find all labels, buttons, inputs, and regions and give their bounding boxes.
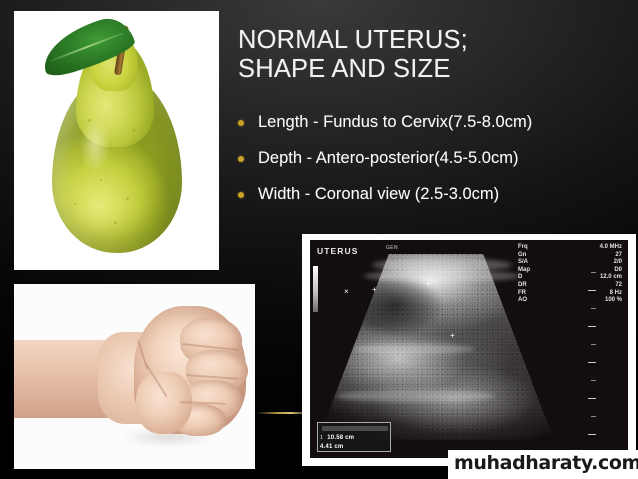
fist-illustration bbox=[14, 284, 255, 469]
ultrasound-scale-tick bbox=[588, 434, 596, 435]
bullet-text: Length - Fundus to Cervix(7.5-8.0cm) bbox=[258, 112, 532, 132]
ultrasound-param-key: FR bbox=[518, 290, 526, 298]
watermark-text: muhadharaty.com bbox=[454, 452, 638, 474]
ultrasound-measure-row: 1 10.58 cm bbox=[320, 433, 388, 442]
pear-speck bbox=[88, 119, 91, 122]
ultrasound-caliper-marker: × bbox=[344, 288, 349, 296]
ultrasound-param-key: Frq bbox=[518, 244, 528, 252]
ultrasound-scale-tick bbox=[588, 326, 596, 327]
ultrasound-tissue-band bbox=[336, 390, 496, 402]
ultrasound-scale-tick bbox=[591, 308, 596, 309]
ultrasound-scale-tick bbox=[591, 344, 596, 345]
bullet-list: Length - Fundus to Cervix(7.5-8.0cm) Dep… bbox=[238, 112, 634, 220]
ultrasound-grayscale-bar bbox=[313, 266, 318, 312]
bullet-dot-icon bbox=[238, 156, 244, 162]
ultrasound-param-value: 4.0 MHz bbox=[600, 244, 622, 252]
ultrasound-param-row: Frq 4.0 MHz bbox=[518, 244, 622, 252]
bullet-dot-icon bbox=[238, 192, 244, 198]
ultrasound-tissue-band bbox=[354, 344, 474, 354]
ultrasound-param-key: AO bbox=[518, 297, 527, 305]
ultrasound-label: UTERUS bbox=[317, 246, 359, 256]
ultrasound-param-value: 27 bbox=[615, 252, 622, 260]
ultrasound-top-code: GEN bbox=[386, 245, 398, 251]
ultrasound-tissue-band bbox=[364, 270, 520, 282]
list-item: Depth - Antero-posterior(4.5-5.0cm) bbox=[238, 148, 634, 184]
pear-speck bbox=[74, 203, 76, 205]
ultrasound-param-value: 8 Hz bbox=[610, 290, 622, 298]
ultrasound-param-key: DR bbox=[518, 282, 527, 290]
ultrasound-param-row: D 12.0 cm bbox=[518, 274, 622, 282]
ultrasound-parameter-panel: Frq 4.0 MHz Gn 27 S/A 2/0 Map D0 D 12. bbox=[518, 244, 622, 305]
list-item: Length - Fundus to Cervix(7.5-8.0cm) bbox=[238, 112, 634, 148]
ultrasound-depth-scale bbox=[586, 268, 596, 436]
title-line-2: SHAPE AND SIZE bbox=[238, 55, 630, 84]
pear-speck bbox=[80, 161, 82, 163]
gold-divider-line bbox=[256, 412, 306, 414]
pear-speck bbox=[100, 179, 102, 181]
fist-image bbox=[14, 284, 255, 469]
pear-speck bbox=[146, 171, 148, 173]
list-item: Width - Coronal view (2.5-3.0cm) bbox=[238, 184, 634, 220]
bullet-text: Width - Coronal view (2.5-3.0cm) bbox=[258, 184, 499, 204]
ultrasound-param-value: D0 bbox=[614, 267, 622, 275]
ultrasound-param-row: S/A 2/0 bbox=[518, 259, 622, 267]
ultrasound-image: UTERUS GEN Frq 4.0 MHz Gn 27 S/A 2/0 Map bbox=[302, 234, 636, 466]
pear-speck bbox=[126, 197, 129, 200]
thumb-shape bbox=[136, 372, 192, 434]
ultrasound-measure-label: 1 bbox=[320, 435, 323, 441]
presentation-slide: NORMAL UTERUS; SHAPE AND SIZE Length - F… bbox=[0, 0, 638, 479]
ultrasound-param-row: Gn 27 bbox=[518, 252, 622, 260]
ultrasound-param-key: Gn bbox=[518, 252, 526, 260]
ultrasound-scale-tick bbox=[588, 398, 596, 399]
ultrasound-param-value: 72 bbox=[615, 282, 622, 290]
pear-speck bbox=[154, 211, 156, 213]
ultrasound-param-key: Map bbox=[518, 267, 530, 275]
ultrasound-measure-value-2: 4.41 cm bbox=[320, 444, 343, 450]
title-line-1: NORMAL UTERUS; bbox=[238, 26, 630, 55]
pear-highlight bbox=[74, 106, 116, 184]
ultrasound-scale-tick bbox=[591, 416, 596, 417]
ultrasound-param-value: 12.0 cm bbox=[600, 274, 622, 282]
bullet-dot-icon bbox=[238, 120, 244, 126]
ultrasound-scale-tick bbox=[591, 380, 596, 381]
ultrasound-param-row: Map D0 bbox=[518, 267, 622, 275]
pear-illustration bbox=[14, 11, 219, 270]
ultrasound-measure-header bbox=[320, 424, 388, 433]
ultrasound-screen: UTERUS GEN Frq 4.0 MHz Gn 27 S/A 2/0 Map bbox=[310, 240, 628, 458]
ultrasound-param-value: 2/0 bbox=[614, 259, 622, 267]
ultrasound-param-row: AO 100 % bbox=[518, 297, 622, 305]
pear-speck bbox=[132, 129, 135, 132]
ultrasound-param-row: FR 8 Hz bbox=[518, 290, 622, 298]
pear-speck bbox=[110, 143, 112, 145]
ultrasound-measure-bar bbox=[322, 426, 388, 431]
ultrasound-param-key: D bbox=[518, 274, 522, 282]
ultrasound-measurement-box: 1 10.58 cm 4.41 cm bbox=[317, 422, 391, 452]
ultrasound-param-value: 100 % bbox=[605, 297, 622, 305]
bullet-text: Depth - Antero-posterior(4.5-5.0cm) bbox=[258, 148, 518, 168]
ultrasound-caliper-marker: + bbox=[372, 286, 377, 294]
ultrasound-measure-value: 10.58 cm bbox=[327, 435, 354, 441]
ultrasound-caliper-marker: + bbox=[450, 332, 455, 340]
ultrasound-param-row: DR 72 bbox=[518, 282, 622, 290]
ultrasound-scale-tick bbox=[588, 290, 596, 291]
ultrasound-measure-row: 4.41 cm bbox=[320, 442, 388, 451]
pear-speck bbox=[114, 221, 117, 224]
ultrasound-param-key: S/A bbox=[518, 259, 528, 267]
ultrasound-scale-tick bbox=[588, 362, 596, 363]
ultrasound-caliper-marker: + bbox=[426, 280, 431, 288]
ultrasound-scale-tick bbox=[591, 272, 596, 273]
pear-image bbox=[14, 11, 219, 270]
page-title: NORMAL UTERUS; SHAPE AND SIZE bbox=[238, 26, 630, 84]
